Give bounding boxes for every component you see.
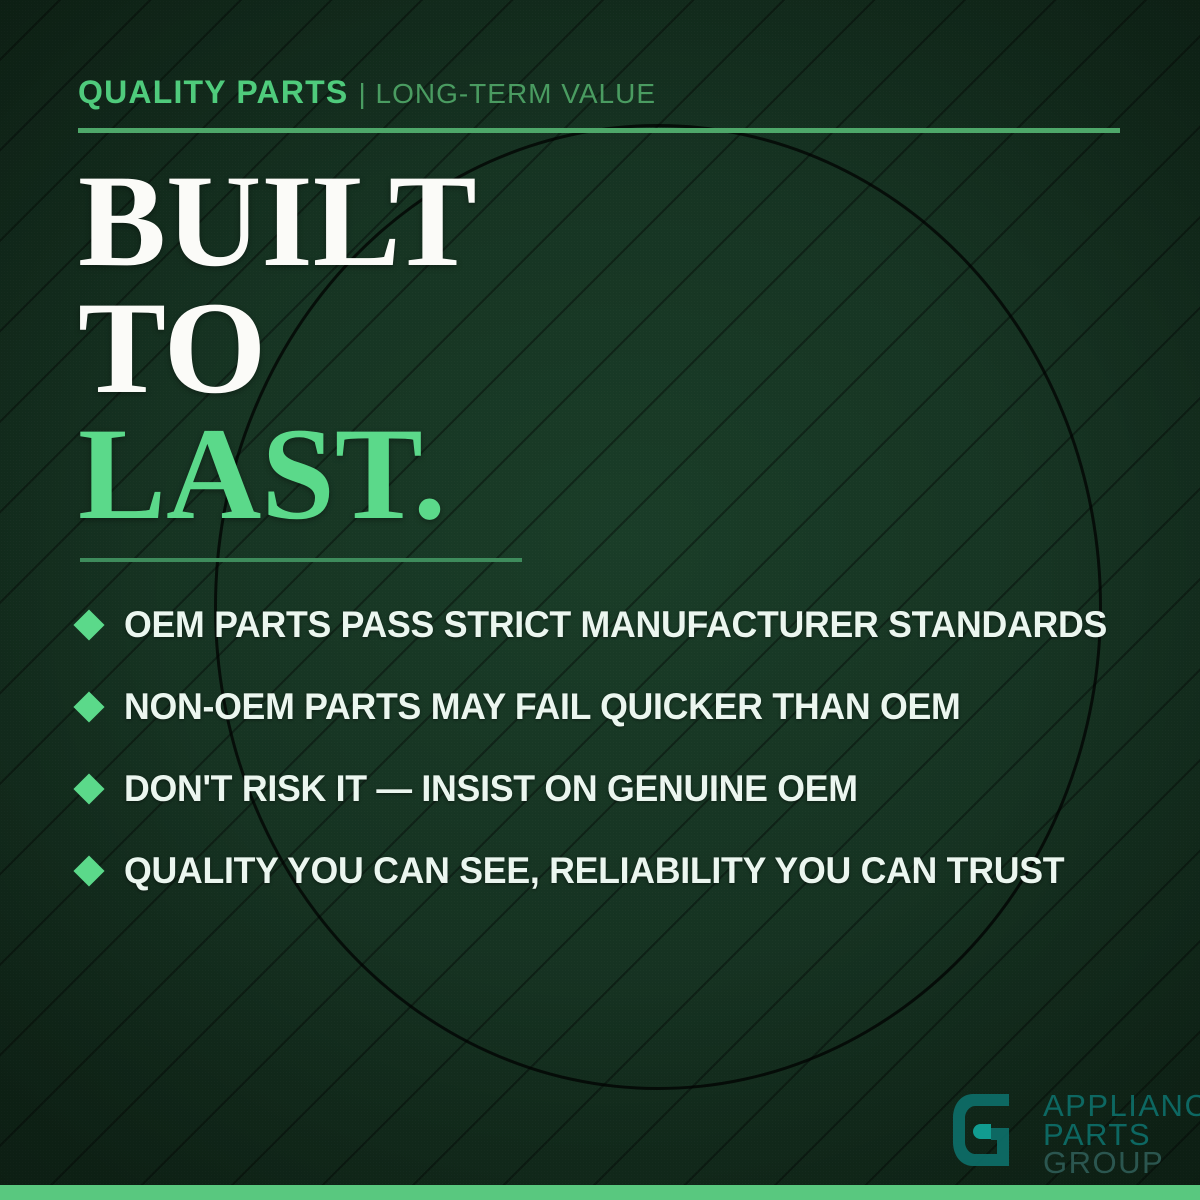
diamond-bullet-icon: [73, 855, 104, 886]
diamond-bullet-icon: [73, 691, 104, 722]
list-item: DON'T RISK IT — INSIST ON GENUINE OEM: [78, 748, 1158, 830]
diamond-bullet-icon: [73, 773, 104, 804]
list-item-label: QUALITY YOU CAN SEE, RELIABILITY YOU CAN…: [124, 850, 1064, 892]
benefits-list: OEM PARTS PASS STRICT MANUFACTURER STAND…: [78, 584, 1158, 912]
eyebrow-main-label: QUALITY PARTS: [78, 74, 348, 110]
bottom-accent-bar: [0, 1185, 1200, 1200]
headline-block: BUILT TO LAST.: [78, 158, 477, 538]
diamond-bullet-icon: [73, 609, 104, 640]
headline-line-3: LAST.: [78, 411, 477, 538]
header-divider-rule: [78, 128, 1120, 133]
headline-line-1: BUILT: [78, 158, 477, 285]
list-item: OEM PARTS PASS STRICT MANUFACTURER STAND…: [78, 584, 1158, 666]
list-item-label: DON'T RISK IT — INSIST ON GENUINE OEM: [124, 768, 858, 810]
poster-content: QUALITY PARTS| LONG-TERM VALUE BUILT TO …: [0, 0, 1200, 1200]
list-item-label: OEM PARTS PASS STRICT MANUFACTURER STAND…: [124, 604, 1107, 646]
brand-logo-line-3: GROUP: [1043, 1149, 1200, 1178]
eyebrow-header: QUALITY PARTS| LONG-TERM VALUE: [78, 76, 656, 108]
brand-logo: APPLIANCE PARTS GROUP: [947, 1088, 1200, 1178]
list-item-label: NON-OEM PARTS MAY FAIL QUICKER THAN OEM: [124, 686, 960, 728]
list-item: NON-OEM PARTS MAY FAIL QUICKER THAN OEM: [78, 666, 1158, 748]
brand-logo-wordmark: APPLIANCE PARTS GROUP: [1043, 1088, 1200, 1178]
eyebrow-sub-label: | LONG-TERM VALUE: [358, 78, 656, 109]
list-item: QUALITY YOU CAN SEE, RELIABILITY YOU CAN…: [78, 830, 1158, 912]
poster-canvas: QUALITY PARTS| LONG-TERM VALUE BUILT TO …: [0, 0, 1200, 1200]
headline-divider-rule: [80, 558, 522, 562]
headline-line-2: TO: [78, 285, 477, 412]
g-monogram-icon: [947, 1088, 1031, 1172]
